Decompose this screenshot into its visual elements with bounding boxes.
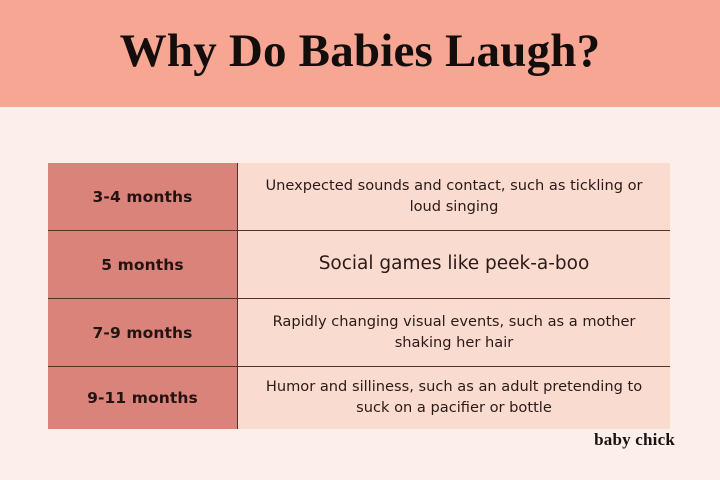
- table-cell-age: 7-9 months: [48, 299, 238, 366]
- table-cell-age: 3-4 months: [48, 163, 238, 230]
- description-label: Unexpected sounds and contact, such as t…: [252, 176, 656, 217]
- table-row: 3-4 months Unexpected sounds and contact…: [48, 163, 670, 231]
- infographic-page: Why Do Babies Laugh? 3-4 months Unexpect…: [0, 0, 720, 480]
- table-cell-age: 9-11 months: [48, 367, 238, 429]
- table-cell-age: 5 months: [48, 231, 238, 298]
- description-label: Social games like peek-a-boo: [319, 252, 590, 276]
- brand-logo: baby chick: [594, 430, 675, 450]
- table-row: 5 months Social games like peek-a-boo: [48, 231, 670, 299]
- table-cell-description: Humor and silliness, such as an adult pr…: [238, 367, 670, 429]
- table-cell-description: Unexpected sounds and contact, such as t…: [238, 163, 670, 230]
- description-label: Humor and silliness, such as an adult pr…: [252, 377, 656, 418]
- age-milestone-table: 3-4 months Unexpected sounds and contact…: [48, 163, 670, 429]
- table-cell-description: Rapidly changing visual events, such as …: [238, 299, 670, 366]
- table-row: 9-11 months Humor and silliness, such as…: [48, 367, 670, 429]
- age-label: 5 months: [101, 256, 184, 274]
- age-label: 3-4 months: [93, 188, 193, 206]
- description-label: Rapidly changing visual events, such as …: [252, 312, 656, 353]
- age-label: 9-11 months: [87, 389, 198, 407]
- page-title: Why Do Babies Laugh?: [120, 28, 601, 79]
- header-band: Why Do Babies Laugh?: [0, 0, 720, 107]
- age-label: 7-9 months: [93, 324, 193, 342]
- table-row: 7-9 months Rapidly changing visual event…: [48, 299, 670, 367]
- table-cell-description: Social games like peek-a-boo: [238, 231, 670, 298]
